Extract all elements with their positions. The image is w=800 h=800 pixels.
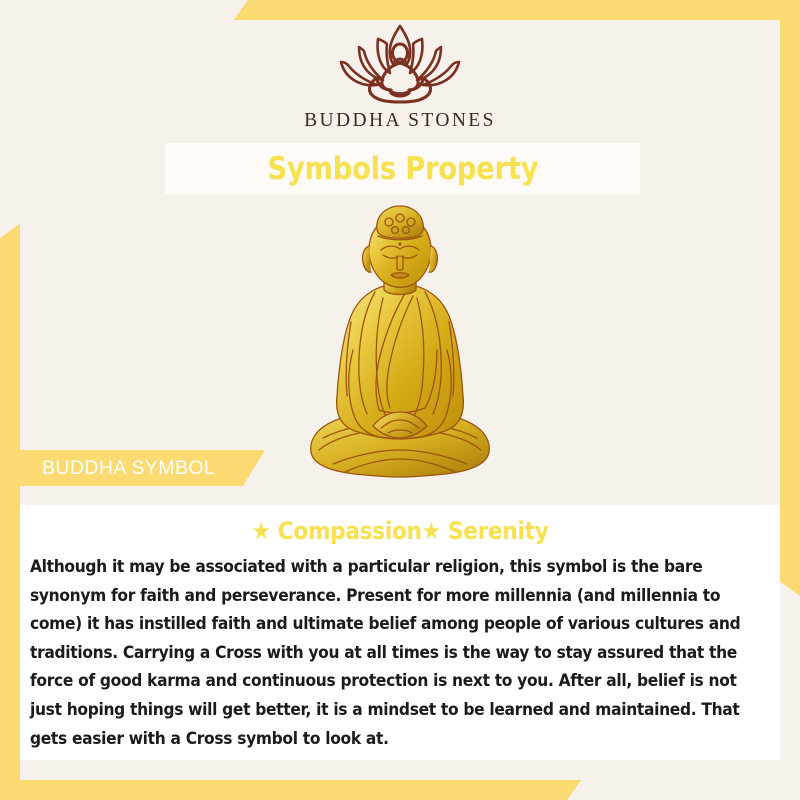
body-paragraph: Although it may be associated with a par… [30,553,770,753]
seated-buddha-icon [285,200,515,492]
content-card: ★ Compassion★ Serenity Although it may b… [20,505,780,760]
tagline: ★ Compassion★ Serenity [58,517,742,545]
lotus-meditation-icon [315,20,485,108]
ribbon-label: BUDDHA SYMBOL [20,457,215,480]
section-ribbon: BUDDHA SYMBOL [20,450,265,486]
brand-header: BUDDHA STONES [0,20,800,132]
title-strip: Symbols Property [165,143,640,194]
page-title: Symbols Property [267,151,538,187]
poster-root: BUDDHA STONES Symbols Property [0,0,800,800]
brand-name: BUDDHA STONES [304,110,496,132]
